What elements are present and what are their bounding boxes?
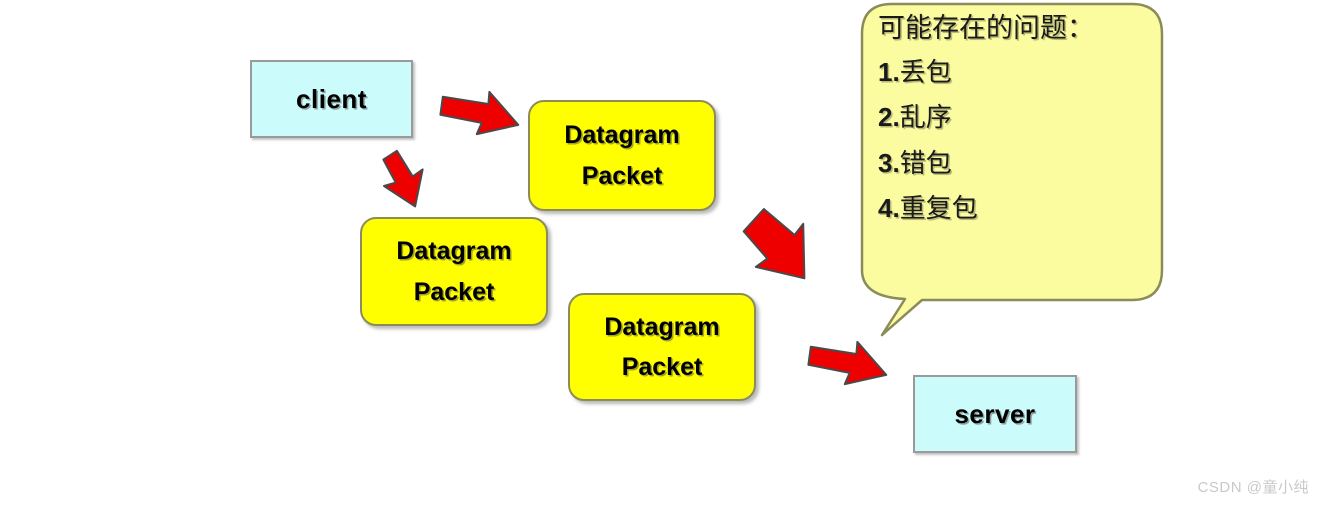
callout-item-3: 3.错包 [878,149,1148,178]
callout-item-4-text: 重复包 [900,193,978,223]
callout-item-3-number: 3. [878,148,900,178]
arrow-packet-3-to-server [800,338,892,404]
arrow-client-to-packet-1 [432,88,524,154]
callout-item-1: 1.丢包 [878,58,1148,87]
arrow-packet-1-to-callout [732,206,824,296]
packet-3-line-2: Packet [622,354,703,380]
callout-list: 1.丢包 2.乱序 3.错包 4.重复包 [878,58,1148,223]
arrow-client-to-packet-2 [362,150,432,216]
server-box: server [913,375,1077,453]
callout-item-3-text: 错包 [900,148,952,178]
packet-2-line-2: Packet [414,279,495,305]
callout-item-2: 2.乱序 [878,103,1148,132]
problems-callout: 可能存在的问题： 1.丢包 2.乱序 3.错包 4.重复包 [860,2,1165,340]
callout-item-2-number: 2. [878,102,900,132]
callout-item-4: 4.重复包 [878,194,1148,223]
diagram-canvas: client Datagram Packet Datagram Packet D… [0,0,1323,505]
packet-1-line-2: Packet [582,163,663,189]
packet-3-line-1: Datagram [604,314,719,340]
watermark: CSDN @童小纯 [1198,476,1309,497]
packet-1-line-1: Datagram [564,122,679,148]
client-box: client [250,60,413,138]
server-label: server [954,399,1035,430]
callout-title: 可能存在的问题： [878,14,1148,44]
packet-box-2: Datagram Packet [360,217,548,326]
packet-box-1: Datagram Packet [528,100,716,211]
packet-2-line-1: Datagram [396,238,511,264]
callout-item-2-text: 乱序 [900,102,952,132]
callout-item-4-number: 4. [878,193,900,223]
client-label: client [296,84,367,115]
callout-item-1-text: 丢包 [900,57,952,87]
packet-box-3: Datagram Packet [568,293,756,401]
callout-item-1-number: 1. [878,57,900,87]
